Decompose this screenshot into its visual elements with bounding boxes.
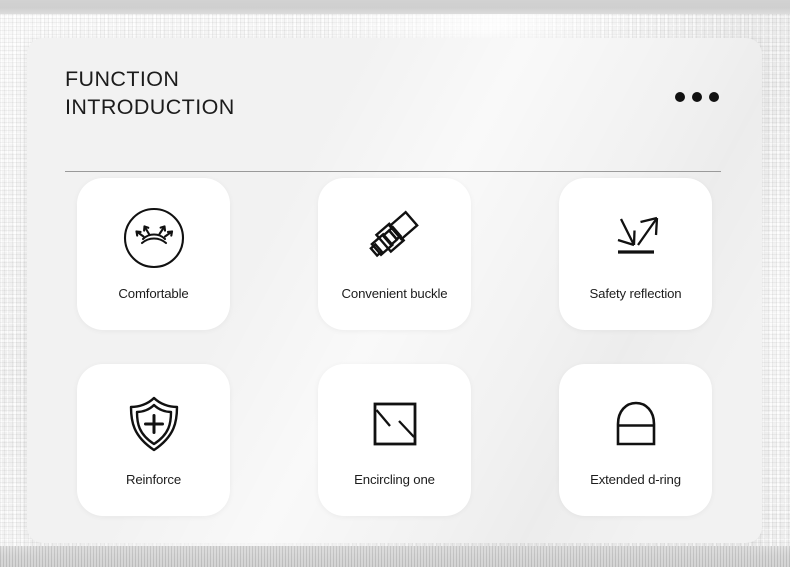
feature-card-encircling-one[interactable]: Encircling one [318, 364, 471, 516]
page-title-line-1: FUNCTION [65, 65, 721, 93]
feature-card-safety-reflection[interactable]: Safety reflection [559, 178, 712, 330]
seatbelt-buckle-icon [358, 201, 432, 275]
feature-label: Reinforce [126, 472, 181, 487]
function-introduction-panel: FUNCTION INTRODUCTION [27, 38, 762, 543]
shield-plus-icon [117, 387, 191, 461]
feature-card-convenient-buckle[interactable]: Convenient buckle [318, 178, 471, 330]
feature-label: Encircling one [354, 472, 435, 487]
feature-label: Convenient buckle [342, 286, 448, 301]
more-options-button[interactable] [675, 92, 719, 102]
menu-dot-icon [675, 92, 685, 102]
menu-dot-icon [709, 92, 719, 102]
feature-grid: Comfortable [77, 178, 713, 516]
breathable-circle-arrows-icon [117, 201, 191, 275]
page-title-line-2: INTRODUCTION [65, 93, 721, 121]
top-band [0, 0, 790, 14]
menu-dot-icon [692, 92, 702, 102]
header-divider [65, 171, 721, 172]
feature-card-comfortable[interactable]: Comfortable [77, 178, 230, 330]
page-root: FUNCTION INTRODUCTION [0, 0, 790, 567]
reflection-arrows-icon [599, 201, 673, 275]
feature-label: Extended d-ring [590, 472, 681, 487]
feature-card-extended-d-ring[interactable]: Extended d-ring [559, 364, 712, 516]
feature-card-reinforce[interactable]: Reinforce [77, 364, 230, 516]
bottom-band [0, 546, 790, 567]
square-diagonals-icon [358, 387, 432, 461]
feature-label: Comfortable [118, 286, 188, 301]
d-ring-icon [599, 387, 673, 461]
panel-header: FUNCTION INTRODUCTION [65, 65, 721, 141]
page-title: FUNCTION INTRODUCTION [65, 65, 721, 121]
feature-label: Safety reflection [589, 286, 681, 301]
